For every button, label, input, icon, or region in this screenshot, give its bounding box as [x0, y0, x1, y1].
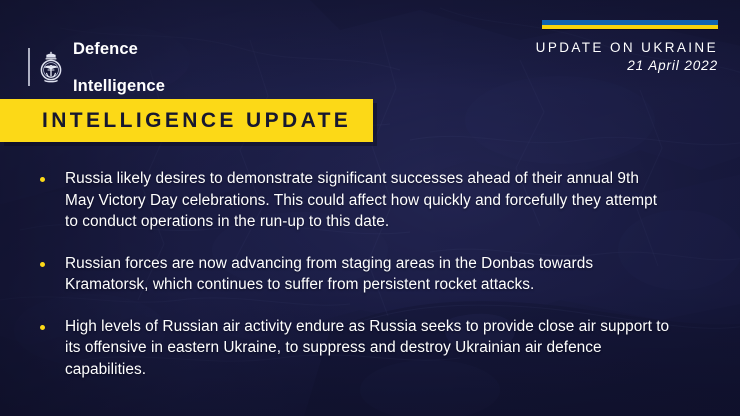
list-item: High levels of Russian air activity endu… [40, 316, 672, 381]
logo-divider [28, 48, 30, 86]
intelligence-update-slide: Defence Intelligence UPDATE ON UKRAINE 2… [0, 0, 740, 416]
list-item: Russian forces are now advancing from st… [40, 253, 672, 296]
banner-title: INTELLIGENCE UPDATE [0, 109, 351, 133]
logo-line-1: Defence [73, 40, 165, 59]
header-date: 21 April 2022 [536, 57, 718, 75]
intelligence-update-banner: INTELLIGENCE UPDATE [0, 99, 373, 142]
mod-crest-icon [39, 50, 63, 84]
list-item: Russia likely desires to demonstrate sig… [40, 168, 672, 233]
ukraine-flag-bar-icon [542, 20, 718, 29]
bullet-text: Russia likely desires to demonstrate sig… [65, 168, 672, 233]
header-title: UPDATE ON UKRAINE [536, 40, 718, 56]
bullet-list: Russia likely desires to demonstrate sig… [40, 168, 672, 380]
logo-line-2: Intelligence [73, 77, 165, 96]
bullet-text: Russian forces are now advancing from st… [65, 253, 672, 296]
flag-yellow-stripe [542, 25, 718, 30]
bullet-dot-icon [40, 262, 45, 267]
bullet-dot-icon [40, 325, 45, 330]
bullet-text: High levels of Russian air activity endu… [65, 316, 672, 381]
bullet-dot-icon [40, 177, 45, 182]
header-right-block: UPDATE ON UKRAINE 21 April 2022 [536, 20, 718, 75]
